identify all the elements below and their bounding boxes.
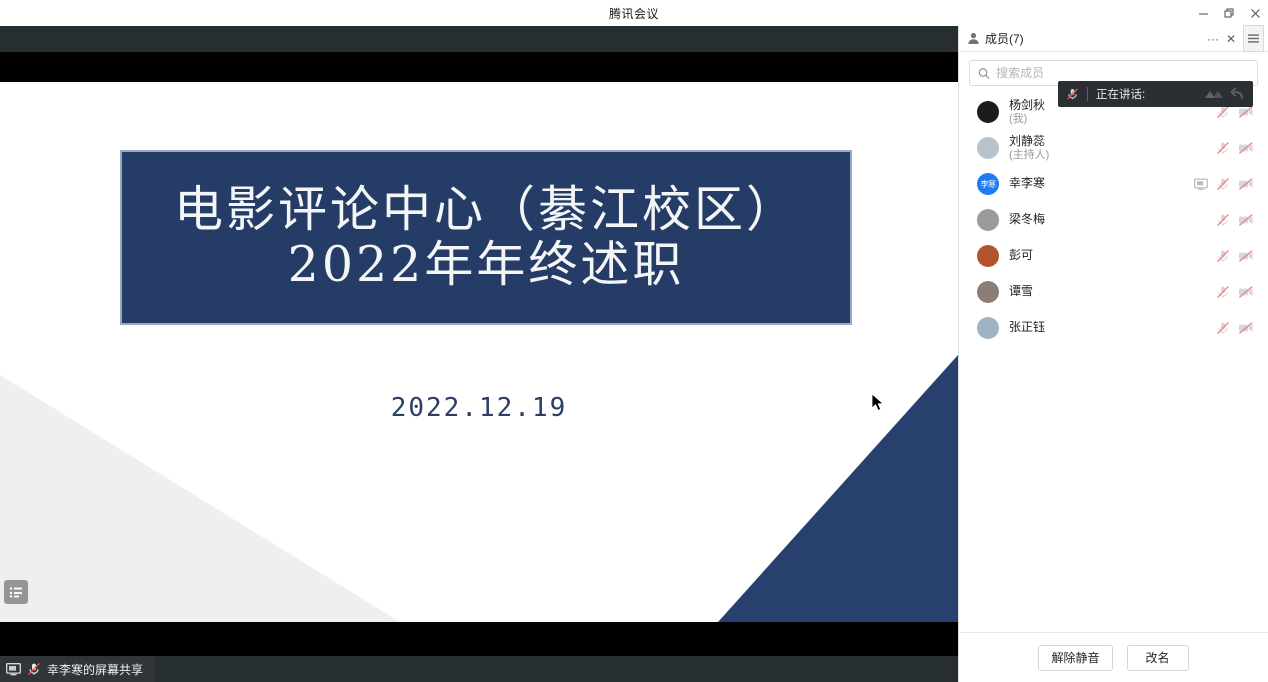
toast-right-icons — [1203, 87, 1245, 102]
participants-panel: 成员(7) ··· ✕ — [958, 26, 1268, 682]
presentation-slide: 电影评论中心（綦江校区） 2022年年终述职 2022.12.19 — [0, 82, 958, 622]
close-icon — [1250, 8, 1261, 19]
camera-off-icon[interactable] — [1238, 105, 1254, 119]
search-input[interactable] — [996, 66, 1249, 80]
mic-muted-icon[interactable] — [1216, 321, 1230, 335]
participants-header-left: 成员(7) — [959, 30, 1205, 47]
reply-arrow-icon — [1230, 87, 1245, 101]
participant-name: 幸李寒 — [1009, 177, 1045, 191]
participants-search-area: 正在讲话: — [959, 52, 1268, 92]
camera-off-icon[interactable] — [1238, 177, 1254, 191]
camera-off-icon[interactable] — [1238, 321, 1254, 335]
participant-name-block: 梁冬梅 — [1009, 213, 1045, 227]
unmute-button[interactable]: 解除静音 — [1038, 645, 1112, 671]
screen-share-status: 幸李寒的屏幕共享 — [0, 656, 155, 682]
restore-button[interactable] — [1216, 0, 1242, 26]
stage-top-chrome — [0, 26, 958, 52]
screen-share-icon[interactable] — [1194, 178, 1208, 191]
participant-row[interactable]: 谭雪 — [959, 274, 1268, 310]
participants-list: 杨剑秋 (我) — [959, 92, 1268, 632]
speaking-toast: 正在讲话: — [1058, 81, 1253, 107]
camera-off-icon[interactable] — [1238, 285, 1254, 299]
participant-name-block: 杨剑秋 (我) — [1009, 99, 1045, 125]
window-titlebar: 腾讯会议 — [0, 0, 1268, 26]
sidebar-toggle-button[interactable] — [1243, 25, 1264, 52]
minimize-button[interactable] — [1190, 0, 1216, 26]
avatar — [977, 245, 999, 267]
speaking-label: 正在讲话: — [1096, 86, 1145, 102]
participants-panel-footer: 解除静音 改名 — [959, 632, 1268, 682]
mic-muted-icon[interactable] — [1216, 177, 1230, 191]
participant-name: 梁冬梅 — [1009, 213, 1045, 227]
search-icon — [978, 67, 990, 80]
mic-muted-icon[interactable] — [1216, 285, 1230, 299]
mic-muted-icon — [1066, 87, 1079, 101]
mic-muted-icon — [27, 662, 41, 676]
slide-title-line-1: 电影评论中心（綦江校区） — [174, 183, 798, 238]
person-icon — [967, 32, 980, 45]
close-button[interactable] — [1242, 0, 1268, 26]
participant-name: 谭雪 — [1009, 285, 1033, 299]
rename-button[interactable]: 改名 — [1127, 645, 1189, 671]
mic-muted-icon[interactable] — [1216, 141, 1230, 155]
participant-name: 张正钰 — [1009, 321, 1045, 335]
participant-name: 刘静蕊 — [1009, 135, 1049, 149]
slide-title-line-2: 2022年年终述职 — [288, 238, 685, 293]
sound-wave-icon — [1203, 87, 1229, 102]
shared-screen-stage: 电影评论中心（綦江校区） 2022年年终述职 2022.12.19 — [0, 26, 958, 682]
window-controls — [1190, 0, 1268, 26]
participant-status-icons — [1194, 177, 1254, 191]
participant-name: 彭可 — [1009, 249, 1033, 263]
more-options-button[interactable]: ··· — [1205, 29, 1221, 49]
participants-count-label: 成员(7) — [985, 30, 1024, 47]
participant-status-icons — [1216, 285, 1254, 299]
mic-muted-icon[interactable] — [1216, 249, 1230, 263]
camera-off-icon[interactable] — [1238, 249, 1254, 263]
meeting-window: 腾讯会议 — [0, 0, 1268, 682]
participant-status-icons — [1216, 321, 1254, 335]
monitor-icon — [6, 663, 21, 676]
toast-divider — [1087, 87, 1088, 101]
avatar-initials: 李寒 — [981, 179, 996, 190]
participant-role: (我) — [1009, 113, 1045, 126]
participant-row[interactable]: 李寒 幸李寒 — [959, 166, 1268, 202]
screen-share-status-text: 幸李寒的屏幕共享 — [47, 661, 143, 678]
participant-row[interactable]: 梁冬梅 — [959, 202, 1268, 238]
participant-status-icons — [1216, 249, 1254, 263]
list-icon — [9, 586, 24, 598]
participant-row[interactable]: 刘静蕊 (主持人) — [959, 130, 1268, 166]
slide-title-box: 电影评论中心（綦江校区） 2022年年终述职 — [120, 150, 852, 325]
avatar — [977, 317, 999, 339]
participant-status-icons — [1216, 105, 1254, 119]
panel-close-button[interactable]: ✕ — [1223, 29, 1239, 49]
participant-name-block: 张正钰 — [1009, 321, 1045, 335]
minimize-icon — [1198, 8, 1209, 19]
mic-muted-icon[interactable] — [1216, 105, 1230, 119]
camera-off-icon[interactable] — [1238, 141, 1254, 155]
avatar: 李寒 — [977, 173, 999, 195]
restore-icon — [1224, 8, 1235, 19]
slide-list-button[interactable] — [4, 580, 28, 604]
avatar — [977, 101, 999, 123]
participant-name: 杨剑秋 — [1009, 99, 1045, 113]
avatar — [977, 209, 999, 231]
participant-name-block: 谭雪 — [1009, 285, 1033, 299]
participant-status-icons — [1216, 141, 1254, 155]
participant-name-block: 刘静蕊 (主持人) — [1009, 135, 1049, 161]
participant-name-block: 幸李寒 — [1009, 177, 1045, 191]
window-title: 腾讯会议 — [609, 5, 659, 22]
participants-header-actions: ··· ✕ — [1205, 25, 1268, 52]
avatar — [977, 137, 999, 159]
mic-muted-icon[interactable] — [1216, 213, 1230, 227]
participant-row[interactable]: 彭可 — [959, 238, 1268, 274]
camera-off-icon[interactable] — [1238, 213, 1254, 227]
participant-row[interactable]: 张正钰 — [959, 310, 1268, 346]
participant-status-icons — [1216, 213, 1254, 227]
slide-date: 2022.12.19 — [0, 393, 958, 423]
participant-role: (主持人) — [1009, 149, 1049, 162]
hamburger-icon — [1248, 34, 1259, 43]
participant-name-block: 彭可 — [1009, 249, 1033, 263]
mouse-cursor — [872, 394, 886, 413]
participants-panel-header: 成员(7) ··· ✕ — [959, 26, 1268, 52]
avatar — [977, 281, 999, 303]
